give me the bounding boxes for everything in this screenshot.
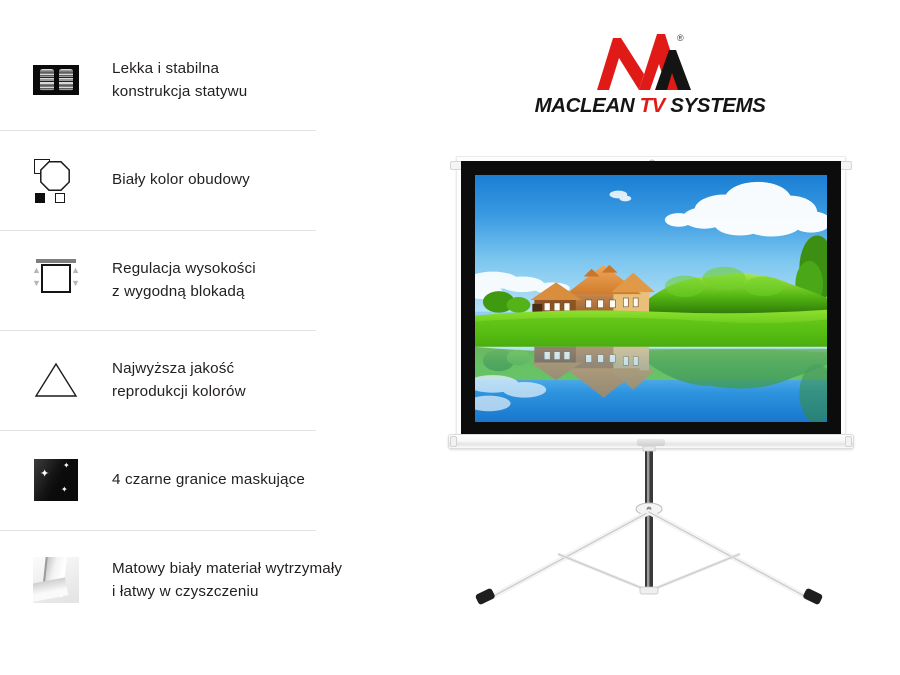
springs-icon <box>33 65 79 95</box>
brand-wordmark: MACLEAN TV SYSTEMS <box>505 94 795 118</box>
feature-label: Biały kolor obudowy <box>112 168 250 191</box>
feature-icon-cell <box>0 557 112 603</box>
feature-row: Matowy biały materiał wytrzymały i łatwy… <box>0 530 430 630</box>
feature-label: Regulacja wysokości z wygodną blokadą <box>112 257 256 303</box>
brand-logo: ® MACLEAN TV SYSTEMS <box>505 28 795 128</box>
feature-label: 4 czarne granice maskujące <box>112 468 305 491</box>
feature-icon-cell: ✦ ✦ ✦ <box>0 459 112 501</box>
product-image <box>442 146 860 616</box>
feature-icon-cell <box>0 157 112 203</box>
registered-trademark-icon: ® <box>677 33 684 43</box>
product-feature-banner: Lekka i stabilna konstrukcja statywu Bia… <box>0 0 900 675</box>
feature-row: Najwyższa jakość reprodukcji kolorów <box>0 330 430 430</box>
screen-hook-right-icon <box>840 161 852 170</box>
feature-list: Lekka i stabilna konstrukcja statywu Bia… <box>0 30 430 630</box>
tripod-stand <box>442 446 860 616</box>
row-divider <box>0 230 316 231</box>
feature-row: ▲▼ ▲▼ Regulacja wysokości z wygodną blok… <box>0 230 430 330</box>
row-divider <box>0 130 316 131</box>
wordmark-maclean: MACLEAN <box>535 94 640 117</box>
black-masking-borders-icon: ✦ ✦ ✦ <box>34 459 78 501</box>
row-divider <box>0 330 316 331</box>
feature-label: Matowy biały materiał wytrzymały i łatwy… <box>112 557 342 603</box>
white-housing-icon <box>34 157 78 203</box>
feature-label: Najwyższa jakość reprodukcji kolorów <box>112 357 246 403</box>
wordmark-systems: SYSTEMS <box>665 94 765 117</box>
height-adjust-icon: ▲▼ ▲▼ <box>30 259 82 301</box>
projector-screen <box>456 156 846 441</box>
octagon-shape <box>40 161 70 191</box>
feature-label: Lekka i stabilna konstrukcja statywu <box>112 57 247 103</box>
color-prism-icon <box>32 360 80 400</box>
projected-landscape-image <box>475 175 827 422</box>
feature-row: Biały kolor obudowy <box>0 130 430 230</box>
feature-icon-cell <box>0 65 112 95</box>
wordmark-tv: TV <box>640 94 665 117</box>
row-divider <box>0 530 316 531</box>
screen-black-border <box>461 161 841 436</box>
feature-row: Lekka i stabilna konstrukcja statywu <box>0 30 430 130</box>
row-divider <box>0 430 316 431</box>
casing-center-hub <box>637 439 665 446</box>
feature-icon-cell: ▲▼ ▲▼ <box>0 259 112 301</box>
feature-icon-cell <box>0 360 112 400</box>
feature-row: ✦ ✦ ✦ 4 czarne granice maskujące <box>0 430 430 530</box>
matte-white-fabric-icon <box>33 557 79 603</box>
